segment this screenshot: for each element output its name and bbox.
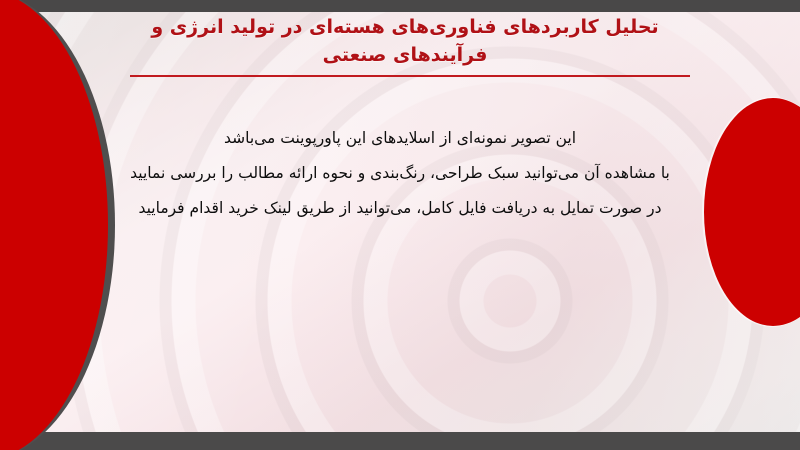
slide-frame-top-band [0, 0, 800, 12]
presentation-slide: تحلیل کاربردهای فناوری‌های هسته‌ای در تو… [0, 0, 800, 450]
slide-frame-bottom-band [0, 432, 800, 450]
slide-content-panel [0, 11, 800, 435]
